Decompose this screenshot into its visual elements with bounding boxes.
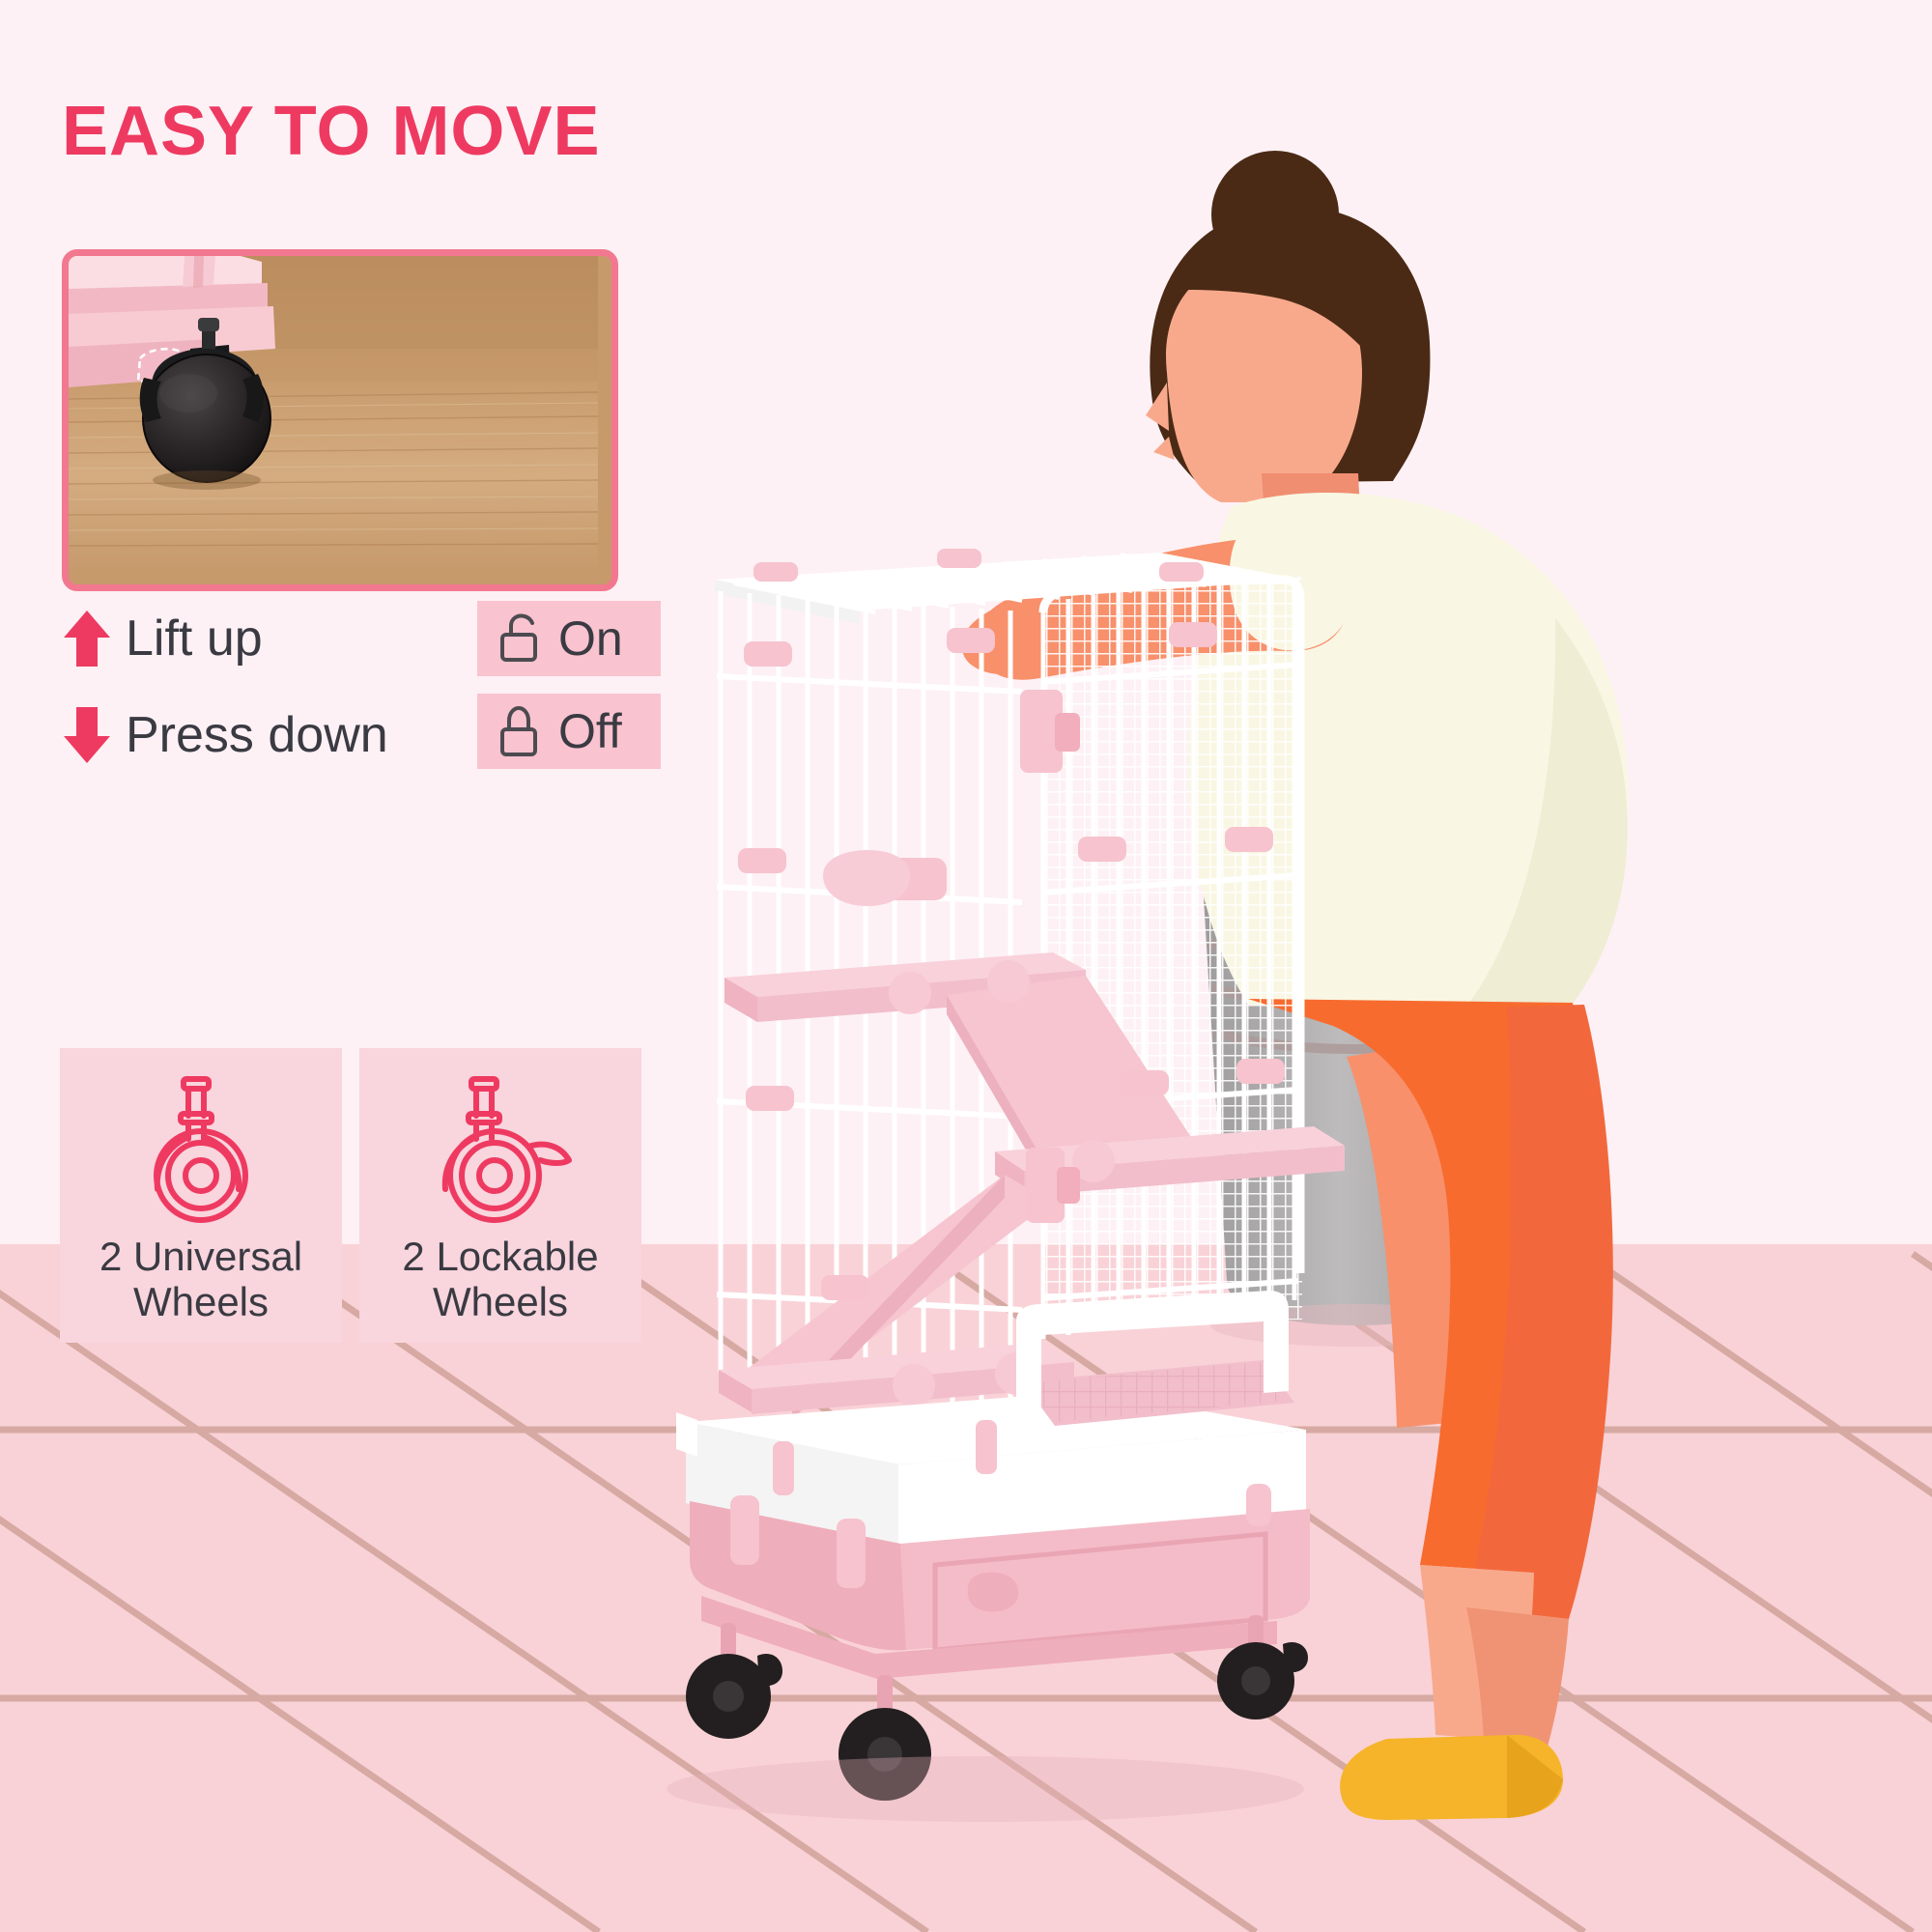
caster-wheel-photo	[62, 249, 618, 591]
padlock-unlocked-icon	[498, 611, 543, 666]
page-title: EASY TO MOVE	[62, 97, 600, 166]
status-badge-off-label: Off	[558, 703, 622, 759]
feature-label-universal-wheels: 2 Universal Wheels	[99, 1234, 302, 1324]
lock-instructions: Lift up Press down On	[62, 599, 641, 792]
feature-label-line1: 2 Universal	[99, 1234, 302, 1279]
lockable-caster-wheel-icon	[424, 1071, 577, 1226]
status-badge-on: On	[477, 601, 661, 676]
infographic-canvas: EASY TO MOVE	[0, 0, 1932, 1932]
feature-label-line2: Wheels	[433, 1279, 568, 1324]
feature-box-lockable-wheels: 2 Lockable Wheels	[359, 1048, 641, 1343]
arrow-up-icon	[62, 609, 112, 668]
arrow-down-icon	[62, 705, 112, 765]
padlock-locked-icon	[498, 704, 543, 758]
feature-box-universal-wheels: 2 Universal Wheels	[60, 1048, 342, 1343]
feature-label-lockable-wheels: 2 Lockable Wheels	[402, 1234, 598, 1324]
status-badge-on-label: On	[558, 611, 623, 667]
feature-label-line1: 2 Lockable	[402, 1234, 598, 1279]
product-scene	[657, 0, 1932, 1932]
pet-cage	[667, 549, 1345, 1822]
cage-food-bowl	[823, 850, 910, 906]
feature-boxes: 2 Universal Wheels	[60, 1048, 641, 1343]
instruction-label-lift-up: Lift up	[126, 610, 263, 668]
instruction-label-press-down: Press down	[126, 706, 388, 764]
feature-label-line2: Wheels	[133, 1279, 269, 1324]
status-badge-off: Off	[477, 694, 661, 769]
caster-wheel-icon	[125, 1071, 277, 1226]
